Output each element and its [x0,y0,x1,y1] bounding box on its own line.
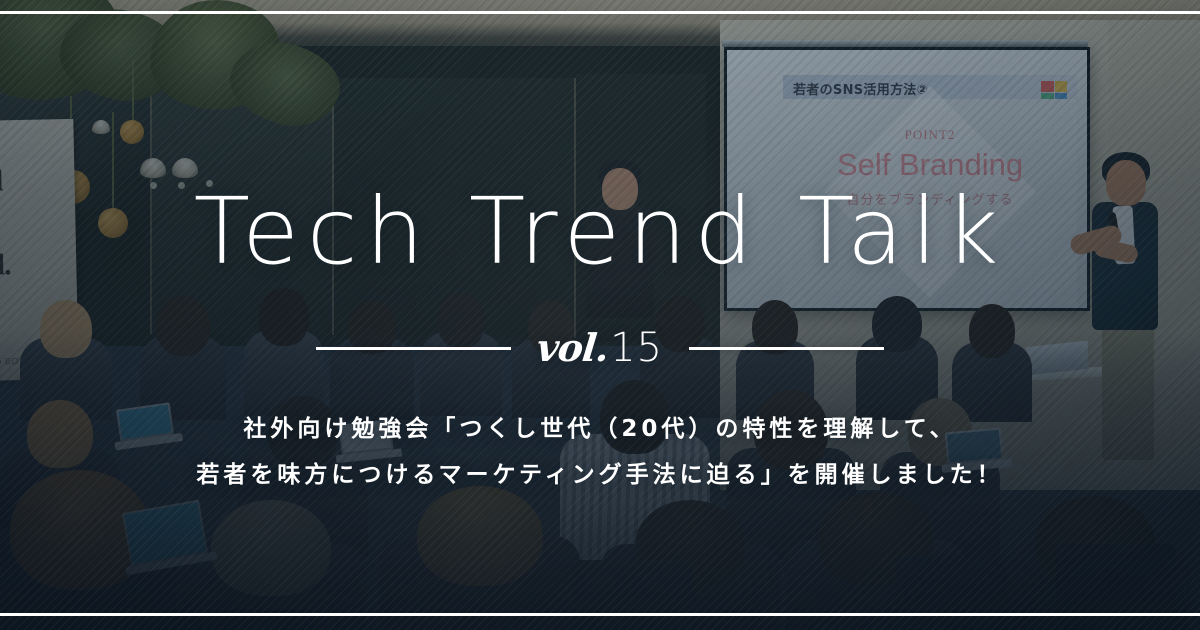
banner-subtitle: 社外向け勉強会「つくし世代（20代）の特性を理解して、 若者を味方につけるマーケ… [0,406,1200,498]
volume-row: vol. 15 [0,325,1200,371]
subtitle-line-1: 社外向け勉強会「つくし世代（20代）の特性を理解して、 [0,406,1200,452]
banner-content: Tech Trend Talk vol. 15 社外向け勉強会「つくし世代（20… [0,0,1200,630]
banner-title: Tech Trend Talk [0,186,1200,278]
event-banner: ood is ood. hello BOTANIC 若者のSNS活用方法② PO… [0,0,1200,630]
volume-rule-left [316,347,511,350]
subtitle-line-2: 若者を味方につけるマーケティング手法に迫る」を開催しました！ [0,452,1200,498]
volume-label: vol. 15 [511,325,689,371]
volume-number: 15 [610,325,663,371]
volume-rule-right [689,347,884,350]
volume-prefix: vol. [535,325,611,370]
